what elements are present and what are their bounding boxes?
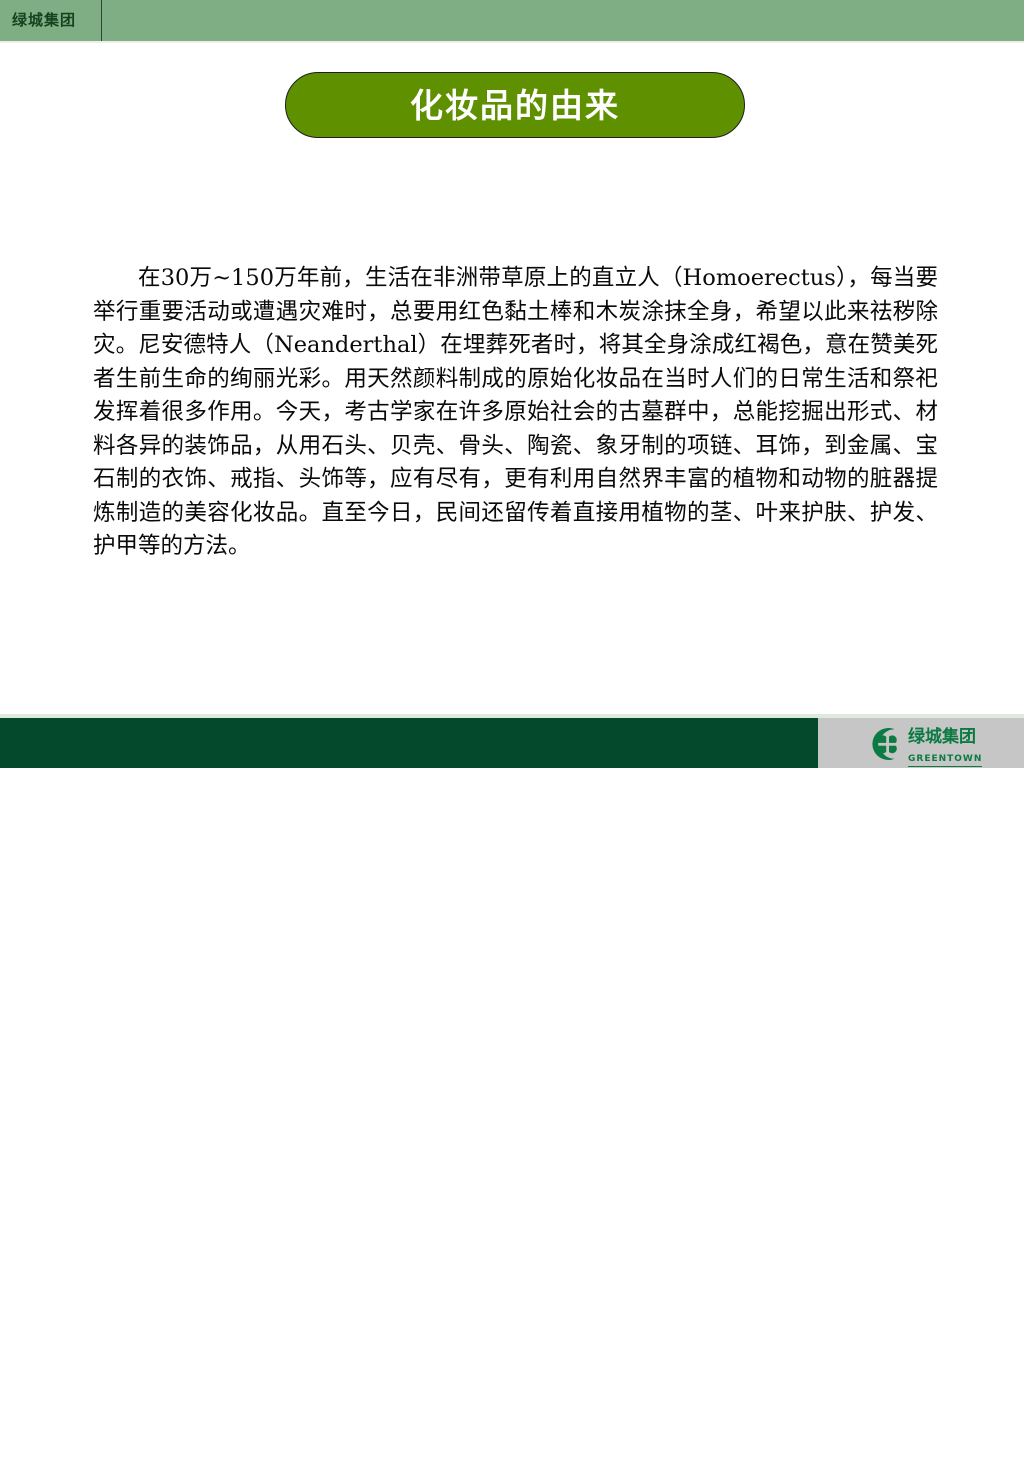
footer-slogan: 创造城市的美丽 (430, 1453, 810, 1478)
page-title: 化妆品的由来 (410, 89, 620, 122)
header-brand-label: 绿城集团 (12, 9, 76, 30)
content-body: 在30万~150万年前，生活在非洲带草原上的直立人（Homoerectus），每… (93, 262, 938, 564)
greentown-crescent-clover-icon (868, 726, 904, 762)
logo-name-en: GREENTOWN (908, 754, 982, 767)
greentown-logo-text: 绿城集团 GREENTOWN (908, 727, 1013, 767)
logo-name-cn: 绿城集团 (908, 727, 976, 747)
slide-canvas: 绿城集团 化妆品的由来 在30万~150万年前，生活在非洲带草原上的直立人（Ho… (0, 0, 1024, 768)
header-band (0, 0, 1024, 41)
header-divider (101, 0, 102, 41)
footer-logo-panel: 绿城集团 GREENTOWN (818, 718, 1024, 768)
body-paragraph: 在30万~150万年前，生活在非洲带草原上的直立人（Homoerectus），每… (93, 262, 938, 564)
header-band-underline (0, 41, 1024, 43)
slide-title-pill: 化妆品的由来 (285, 72, 745, 138)
